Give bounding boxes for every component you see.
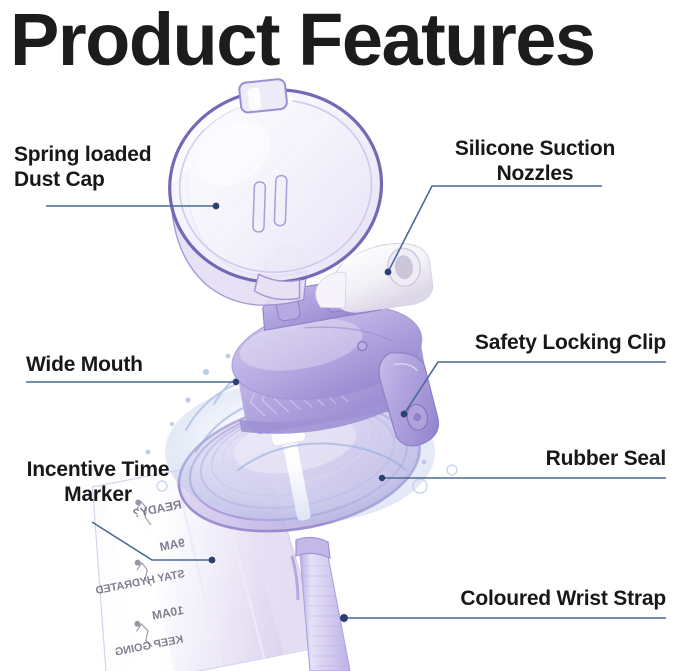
- callout-label-spring-loaded-dust-cap: Spring loaded Dust Cap: [14, 142, 224, 192]
- callout-label-incentive-time-marker: Incentive Time Marker: [0, 457, 198, 507]
- product-features-infographic: Product Features: [0, 0, 679, 671]
- callout-label-wide-mouth: Wide Mouth: [26, 352, 256, 377]
- callout-label-safety-locking-clip: Safety Locking Clip: [400, 330, 666, 355]
- callout-label-coloured-wrist-strap: Coloured Wrist Strap: [390, 586, 666, 611]
- callout-label-rubber-seal: Rubber Seal: [400, 446, 666, 471]
- callout-label-silicone-suction-nozzles: Silicone Suction Nozzles: [410, 136, 660, 186]
